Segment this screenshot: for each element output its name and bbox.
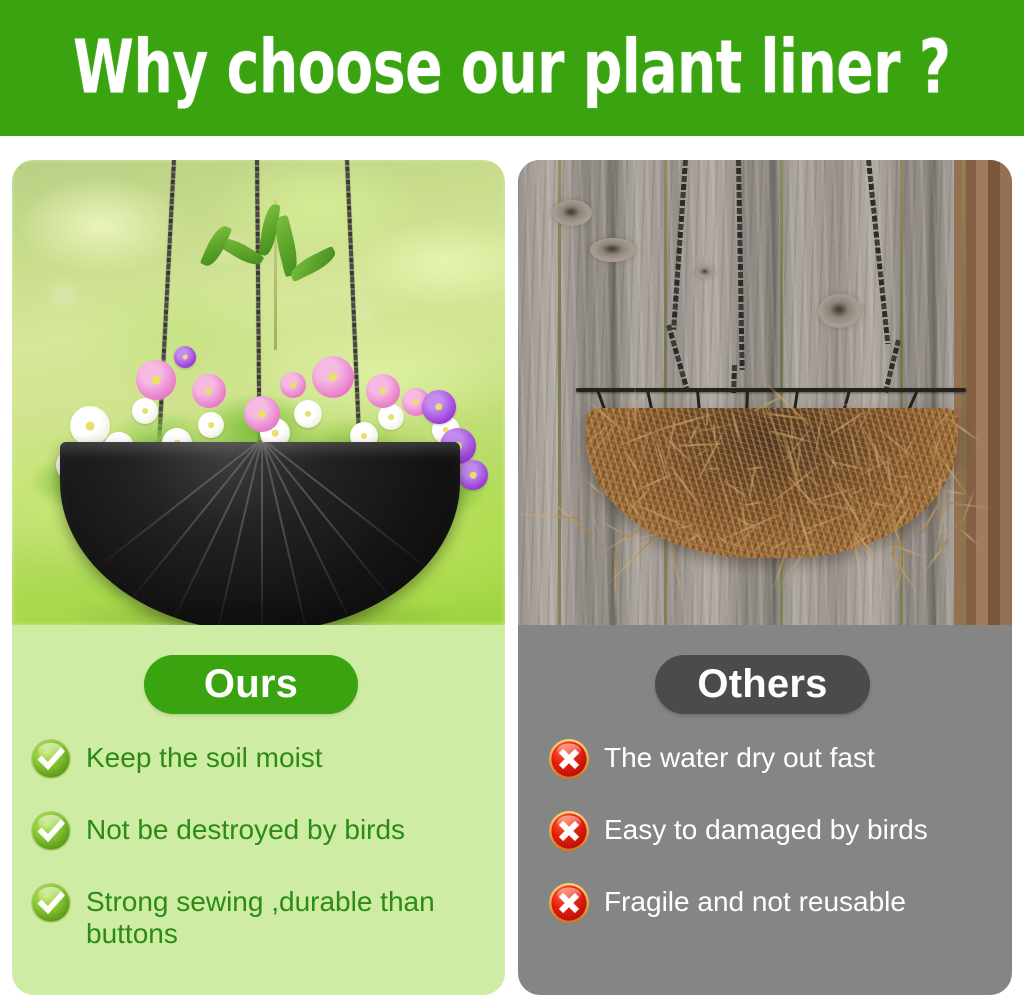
check-circle-icon: [30, 738, 72, 780]
wood-knot: [552, 200, 592, 226]
list-item-label: The water dry out fast: [604, 738, 875, 774]
flower-shape: [280, 372, 306, 398]
list-item: Easy to damaged by birds: [518, 810, 1012, 852]
wood-knot: [590, 238, 636, 262]
list-item: Fragile and not reusable: [518, 882, 1012, 924]
x-circle-icon: [548, 738, 590, 780]
list-item-label: Easy to damaged by birds: [604, 810, 928, 846]
list-item-label: Not be destroyed by birds: [86, 810, 405, 846]
flower-shape: [132, 398, 158, 424]
benefit-list-ours: Keep the soil moist Not be destroyed by …: [12, 738, 505, 980]
check-circle-icon: [30, 810, 72, 852]
list-item: Strong sewing ,durable than buttons: [12, 882, 505, 950]
comparison-panel-ours: Ours Keep the soil moist: [12, 160, 505, 995]
label-ours: Ours: [144, 655, 358, 714]
flower-shape: [294, 400, 322, 428]
plank-seam: [558, 160, 561, 625]
coir-fiber: [614, 551, 616, 618]
flower-shape: [198, 412, 224, 438]
infographic-root: Why choose our plant liner ? Ours: [0, 0, 1024, 996]
flower-shape: [174, 346, 196, 368]
liner-rib: [96, 442, 263, 568]
photo-others-coir-basket: [518, 160, 1012, 625]
liner-rib: [261, 442, 263, 625]
x-circle-icon: [548, 882, 590, 924]
wood-knot: [818, 294, 862, 328]
flower-shape: [244, 396, 280, 432]
page-title: Why choose our plant liner ?: [73, 31, 950, 105]
flower-shape: [458, 460, 488, 490]
liner-rib: [260, 442, 427, 568]
list-item-label: Fragile and not reusable: [604, 882, 906, 918]
plank-seam: [664, 160, 667, 625]
list-item: Keep the soil moist: [12, 738, 505, 780]
check-circle-icon: [30, 882, 72, 924]
x-circle-icon: [548, 738, 590, 780]
basket-shadow: [60, 608, 460, 625]
x-circle-icon: [548, 882, 590, 924]
flower-shape: [312, 356, 354, 398]
comparison-panel-others: Others The water dry out fast: [518, 160, 1012, 995]
flower-shape: [422, 390, 456, 424]
list-item: Not be destroyed by birds: [12, 810, 505, 852]
x-circle-icon: [548, 810, 590, 852]
list-item: The water dry out fast: [518, 738, 1012, 780]
flower-shape: [192, 374, 226, 408]
plank-seam: [962, 160, 965, 625]
flower-shape: [70, 406, 110, 446]
list-item-label: Strong sewing ,durable than buttons: [86, 882, 486, 950]
header-banner: Why choose our plant liner ?: [0, 0, 1024, 136]
flower-shape: [136, 360, 176, 400]
check-circle-icon: [30, 810, 72, 852]
drawback-list-others: The water dry out fast Easy to damaged b…: [518, 738, 1012, 954]
x-circle-icon: [548, 810, 590, 852]
photo-ours-hanging-basket: [12, 160, 505, 625]
flower-shape: [366, 374, 400, 408]
check-circle-icon: [30, 882, 72, 924]
label-ours-text: Ours: [204, 662, 298, 707]
wood-knot: [696, 266, 714, 278]
list-item-label: Keep the soil moist: [86, 738, 323, 774]
label-others-text: Others: [697, 662, 827, 707]
check-circle-icon: [30, 738, 72, 780]
label-others: Others: [655, 655, 870, 714]
